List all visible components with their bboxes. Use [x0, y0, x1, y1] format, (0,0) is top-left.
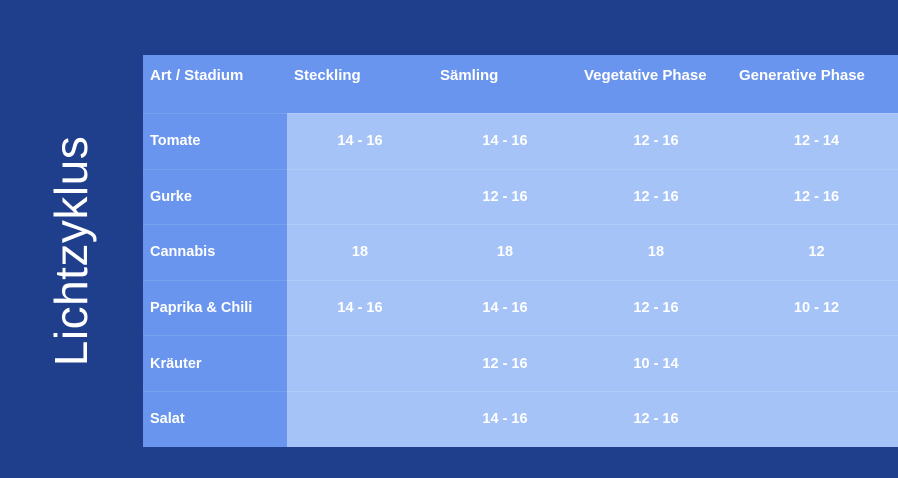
cell-vegetative-phase: 12 - 16: [577, 169, 735, 225]
cell-steckling: [287, 169, 433, 225]
table-row: Tomate 14 - 16 14 - 16 12 - 16 12 - 14: [143, 113, 898, 169]
cell-generative-phase: 12 - 16: [735, 169, 898, 225]
cell-vegetative-phase: 18: [577, 224, 735, 280]
cell-steckling: 14 - 16: [287, 113, 433, 169]
column-header-saemling: Sämling: [433, 55, 577, 113]
table-row: Salat 14 - 16 12 - 16: [143, 391, 898, 447]
row-label: Tomate: [143, 113, 287, 169]
cell-saemling: 12 - 16: [433, 169, 577, 225]
cell-steckling: 18: [287, 224, 433, 280]
table-row: Paprika & Chili 14 - 16 14 - 16 12 - 16 …: [143, 280, 898, 336]
cell-generative-phase: 10 - 12: [735, 280, 898, 336]
cell-generative-phase: [735, 335, 898, 391]
cell-saemling: 12 - 16: [433, 335, 577, 391]
table-header-row: Art / Stadium Steckling Sämling Vegetati…: [143, 55, 898, 113]
cell-generative-phase: [735, 391, 898, 447]
slide-canvas: Lichtzyklus Art / Stadium Steckling Säml…: [0, 0, 898, 478]
column-header-generative-phase: Generative Phase: [735, 55, 898, 113]
cell-generative-phase: 12 - 14: [735, 113, 898, 169]
cell-vegetative-phase: 12 - 16: [577, 113, 735, 169]
cell-vegetative-phase: 10 - 14: [577, 335, 735, 391]
cell-saemling: 14 - 16: [433, 113, 577, 169]
page-title: Lichtzyklus: [49, 136, 95, 366]
row-label: Salat: [143, 391, 287, 447]
cell-steckling: [287, 391, 433, 447]
cell-vegetative-phase: 12 - 16: [577, 391, 735, 447]
column-header-steckling: Steckling: [287, 55, 433, 113]
row-label: Gurke: [143, 169, 287, 225]
cell-generative-phase: 12: [735, 224, 898, 280]
cell-saemling: 18: [433, 224, 577, 280]
table-row: Kräuter 12 - 16 10 - 14: [143, 335, 898, 391]
row-label: Paprika & Chili: [143, 280, 287, 336]
column-header-art-stadium: Art / Stadium: [143, 55, 287, 113]
cell-vegetative-phase: 12 - 16: [577, 280, 735, 336]
row-label: Kräuter: [143, 335, 287, 391]
cell-steckling: 14 - 16: [287, 280, 433, 336]
light-cycle-table: Art / Stadium Steckling Sämling Vegetati…: [143, 55, 898, 447]
column-header-vegetative-phase: Vegetative Phase: [577, 55, 735, 113]
slide-title-container: Lichtzyklus: [0, 55, 143, 447]
cell-steckling: [287, 335, 433, 391]
cell-saemling: 14 - 16: [433, 280, 577, 336]
cell-saemling: 14 - 16: [433, 391, 577, 447]
table-row: Gurke 12 - 16 12 - 16 12 - 16: [143, 169, 898, 225]
table-row: Cannabis 18 18 18 12: [143, 224, 898, 280]
row-label: Cannabis: [143, 224, 287, 280]
